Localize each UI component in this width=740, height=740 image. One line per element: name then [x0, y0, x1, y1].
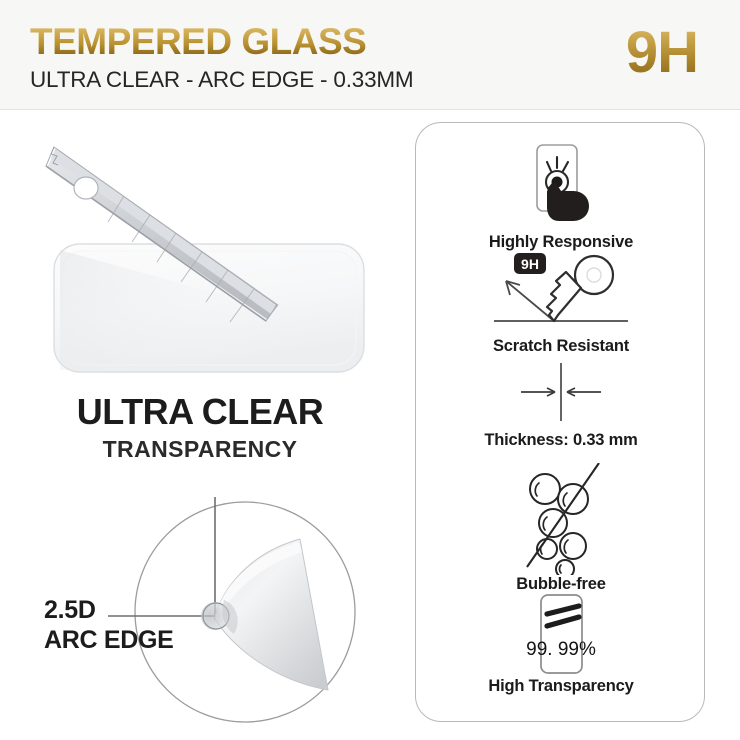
product-infographic: TEMPERED GLASS ULTRA CLEAR - ARC EDGE - …	[0, 0, 740, 740]
page-subtitle: ULTRA CLEAR - ARC EDGE - 0.33MM	[30, 67, 413, 93]
feature-caption: Bubble-free	[416, 575, 706, 594]
feature-bubble-free: Bubble-free	[416, 463, 706, 594]
scratch-badge-9h: 9H	[521, 256, 539, 272]
feature-scratch-resistant: 9H Scratch Resistant	[416, 251, 706, 356]
features-panel: Highly Responsive 9H	[415, 122, 705, 722]
ultra-clear-text-group: ULTRA CLEAR TRANSPARENCY	[0, 392, 400, 463]
feature-caption: Thickness: 0.33 mm	[416, 431, 706, 450]
arc-edge-label: 2.5D ARC EDGE	[44, 595, 174, 655]
blade-over-glass-icon	[20, 122, 400, 387]
thickness-arrows-icon	[416, 359, 706, 431]
header-banner: TEMPERED GLASS ULTRA CLEAR - ARC EDGE - …	[0, 0, 740, 110]
arc-edge-group: 2.5D ARC EDGE	[10, 480, 405, 730]
feature-caption: Highly Responsive	[416, 233, 706, 252]
feature-high-transparency: 99. 99% High Transparency	[416, 593, 706, 696]
feature-thickness: Thickness: 0.33 mm	[416, 359, 706, 450]
bubbles-crossed-icon	[416, 463, 706, 575]
feature-caption: High Transparency	[416, 677, 706, 696]
left-column: ULTRA CLEAR TRANSPARENCY	[0, 110, 405, 740]
feature-caption: Scratch Resistant	[416, 337, 706, 356]
arc-edge-label-line1: 2.5D	[44, 595, 174, 625]
transparency-phone-icon: 99. 99%	[416, 593, 706, 677]
transparency-subheadline: TRANSPARENCY	[0, 436, 400, 463]
transparency-value: 99. 99%	[526, 639, 596, 660]
body-area: ULTRA CLEAR TRANSPARENCY	[0, 110, 740, 740]
feature-highly-responsive: Highly Responsive	[416, 141, 706, 252]
header-text-group: TEMPERED GLASS ULTRA CLEAR - ARC EDGE - …	[30, 20, 413, 93]
ultra-clear-headline: ULTRA CLEAR	[0, 392, 400, 432]
finger-touch-screen-icon	[416, 141, 706, 233]
page-title: TEMPERED GLASS	[30, 20, 413, 64]
key-scratch-9h-icon: 9H	[416, 251, 706, 337]
arc-edge-label-line2: ARC EDGE	[44, 625, 174, 655]
hardness-badge-9h: 9H	[626, 17, 698, 89]
